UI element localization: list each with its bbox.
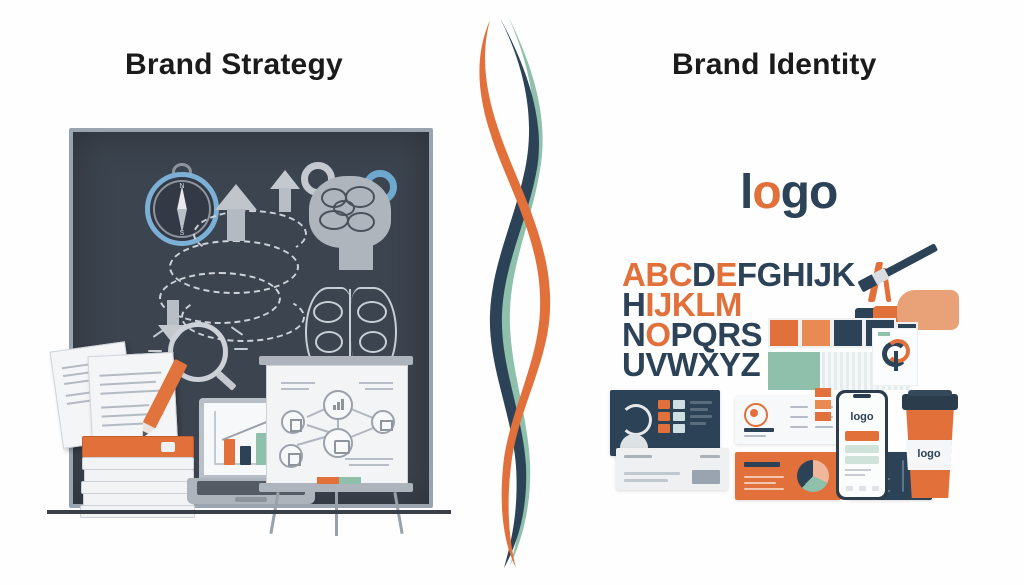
swatch-strip [815,400,831,409]
arrow-head [270,170,300,189]
diagram-node-chart [323,390,353,420]
coffee-cup-mockup: logo [902,390,958,498]
logo-mark-card [872,328,918,386]
brain-fold [357,301,387,323]
brain-fold [359,331,387,353]
node-glyph [334,440,350,454]
easel-leg [335,492,338,536]
letterhead-mockup [616,448,728,490]
cup-logo: logo [902,448,956,460]
arrow-head [215,184,257,210]
text-line [349,464,389,466]
chart-bar [240,446,251,465]
text-line [690,401,712,404]
logo-letter-l: l [740,166,752,219]
phone-nav-icon[interactable] [872,486,879,491]
text-line [624,455,652,458]
text-line [281,388,309,390]
logo-mark-stem [894,351,898,371]
node-bar [337,402,340,410]
text-line [359,382,393,384]
brain-in-head-icon [301,162,405,272]
magnifier-ray [234,348,248,350]
text-line [700,455,720,458]
logo-letter-o: o [752,166,780,219]
diagram-node-right [371,410,395,434]
chart-bar [224,439,235,465]
phone-screen[interactable]: logo [839,393,885,497]
glyph-W: W [667,346,698,383]
flipchart-easel [259,356,413,521]
card-tag [878,332,890,336]
swatch-orange-1 [768,318,800,348]
page-title-right: Brand Identity [672,48,876,82]
phone-logo: logo [839,411,885,423]
card-graphic [620,434,648,448]
card-swatch [658,412,670,421]
arrow-up-icon [223,184,249,240]
magnifier-handle [216,371,237,391]
node-glyph [290,419,302,432]
glyph-G: G [757,256,782,293]
diagram-node-bottom-left [279,444,303,468]
compass-needle-north [177,186,187,210]
node-bar [341,399,344,410]
text-line [744,476,784,478]
text-line [845,469,871,471]
swatch-strip [815,412,831,421]
glyph-U: U [622,346,645,383]
brain-fold [313,301,343,323]
text-line [624,479,668,482]
book-clasp [161,442,175,452]
smartphone-mockup[interactable]: logo [836,390,888,500]
text-line [690,415,712,418]
pie-chart-icon [797,460,829,492]
text-line [744,488,784,490]
text-line [365,388,393,390]
arrow-stem [227,209,245,241]
text-line [281,382,315,384]
flipchart-top-bar [259,356,413,365]
text-line [790,406,808,408]
glyph-H: H [782,256,805,293]
node-bar [333,405,336,410]
illustration-stage: Brand Strategy Brand Identity N S [0,0,1024,585]
text-line [100,389,162,394]
paintbrush-icon [883,243,938,277]
marker-orange [317,477,339,484]
diagram-node-center [323,428,353,458]
card-graphic [620,404,652,436]
arrow-stem [279,188,291,212]
diagram-node-left [281,410,305,434]
card-swatch [658,424,670,433]
glyph-V: V [645,346,667,383]
text-line [624,472,680,475]
card-swatch [658,400,670,409]
brain-fold [333,200,355,216]
text-line [790,416,808,418]
glyph-J: J [814,256,832,293]
logo-mark-ring-orange [886,339,910,363]
book-stack [82,436,202,514]
badge-center [750,409,758,417]
cup-lid [902,394,958,410]
chart-axis-y [214,411,216,465]
ribbon-svg [470,10,580,570]
text-line [790,426,808,428]
swatch-strip [815,388,831,397]
text-line [815,426,833,428]
flipchart-sheet [266,365,408,485]
logo-letters-go: go [781,166,838,219]
swatch-navy-1 [832,318,864,348]
text-line [100,381,156,386]
documents-stack [50,340,200,450]
flipchart-tray [259,483,413,492]
card-swatch [673,412,685,421]
arrow-up-small-icon [276,170,294,212]
brain-fold [347,212,375,232]
dark-presentation-card [610,390,720,456]
text-line [744,482,776,484]
glyph-X: X [698,346,720,383]
phone-cta-button[interactable] [845,431,879,441]
glyph-K: K [832,256,855,293]
text-line [845,474,865,476]
glyph-Y: Y [719,346,741,383]
ribbon-strand-navy [490,18,539,568]
book-orange [82,436,194,458]
sage-block [768,352,820,390]
brand-strategy-illustration: N S [47,118,451,518]
phone-content-block [845,445,879,453]
card-logotype [744,462,780,467]
ground-line [47,510,451,514]
node-glyph [380,420,393,431]
logo-wordmark: logo [740,165,837,220]
text-line [690,422,706,425]
orange-card-with-pie-chart [735,452,841,500]
brand-identity-illustration: logo ABCDEFGHIJK HIJKLM NOPQRS UVWXYZ [600,150,990,510]
ribbon-strand-orange [479,20,550,568]
text-line [690,408,708,411]
intertwined-ribbon-helix [470,10,580,570]
glyph-Z: Z [741,346,761,383]
phone-notch [853,394,871,398]
text-line [99,371,161,376]
page-title-left: Brand Strategy [125,48,343,82]
phone-nav-icon[interactable] [859,486,866,491]
text-line [744,435,766,437]
brain-fold [315,331,343,353]
phone-nav-icon[interactable] [846,486,853,491]
swatch-orange-2 [800,318,832,348]
phone-content-block [845,456,879,464]
glyph-I: I [805,256,814,293]
card-block [692,470,720,484]
marker-green [339,477,361,484]
card-logotype [744,428,774,432]
text-line [101,404,149,409]
card-swatch [673,400,685,409]
text-line [345,458,393,460]
node-glyph [288,453,301,466]
card-swatch [673,424,685,433]
compass-needle-south [177,209,187,233]
cup-lid-top [908,390,952,396]
